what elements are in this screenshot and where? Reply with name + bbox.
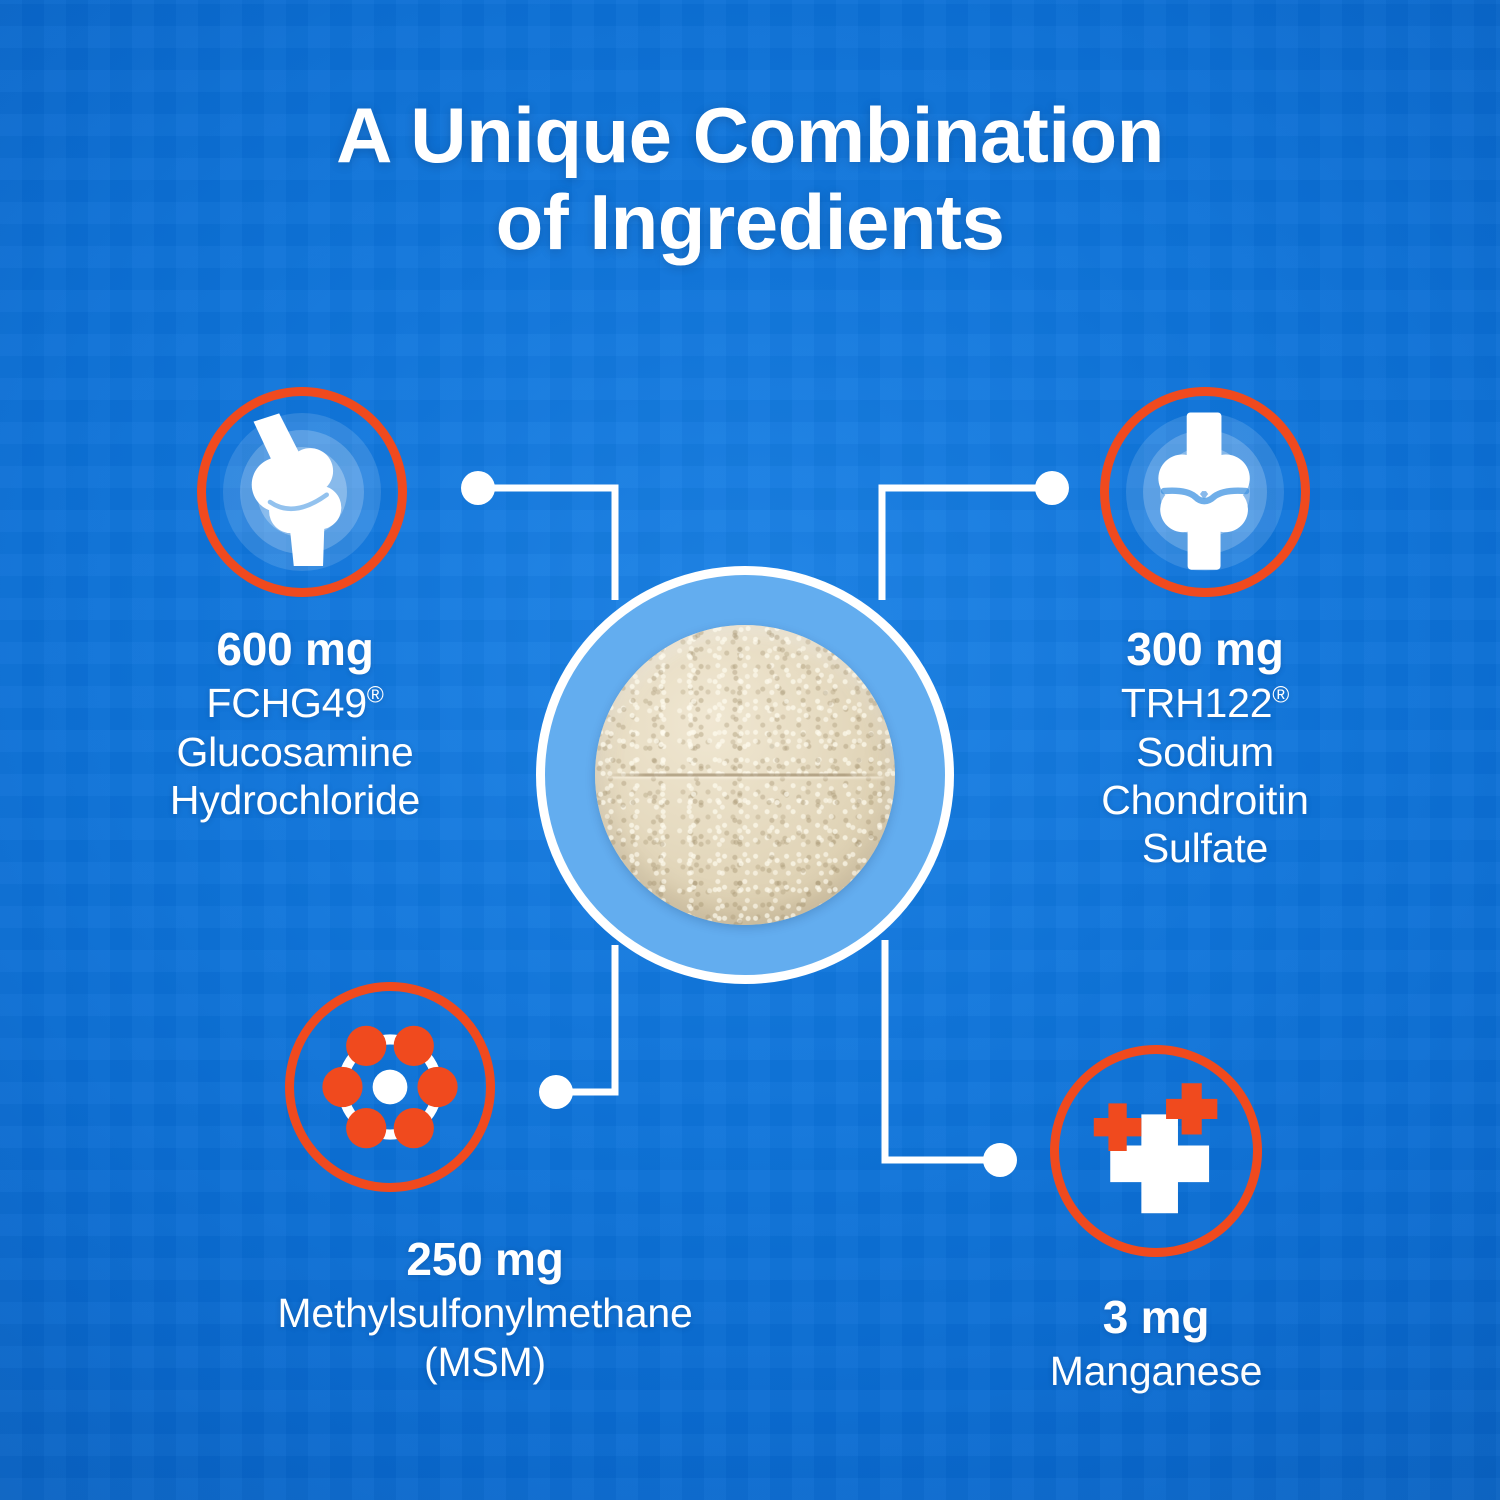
knee-joint-icon-ring: [197, 387, 407, 597]
connector-top-right: [882, 471, 1069, 600]
medical-cross-icon: [1059, 1054, 1253, 1248]
page-title: A Unique Combination of Ingredients: [0, 92, 1500, 267]
knee-joint-icon: [206, 396, 398, 588]
connector-dot-top-right: [1035, 471, 1069, 505]
ingredient-node-glucosamine[interactable]: [197, 387, 407, 597]
name-msm-1: Methylsulfonylmethane: [277, 1290, 692, 1336]
name-chondroitin-3: Sulfate: [1142, 825, 1268, 871]
ingredient-label-glucosamine: 600 mg FCHG49® Glucosamine Hydrochloride: [85, 622, 505, 824]
medical-cross-icon-ring: [1050, 1045, 1262, 1257]
center-tablet-circle: [545, 575, 945, 975]
name-chondroitin-1: Sodium: [1136, 729, 1274, 775]
connector-top-left: [461, 471, 615, 600]
connector-dot-bottom-left: [539, 1075, 573, 1109]
title-line-1: A Unique Combination: [336, 91, 1164, 179]
connector-dot-bottom-right: [983, 1143, 1017, 1177]
ingredient-label-msm: 250 mg Methylsulfonylmethane (MSM): [185, 1232, 785, 1386]
title-line-2: of Ingredients: [0, 179, 1500, 266]
name-chondroitin-2: Chondroitin: [1101, 777, 1309, 823]
name-glucosamine-2: Hydrochloride: [170, 777, 420, 823]
name-manganese-1: Manganese: [1050, 1348, 1262, 1394]
tablet-image: [595, 625, 895, 925]
molecule-icon-ring: [285, 982, 495, 1192]
ingredient-label-chondroitin: 300 mg TRH122® Sodium Chondroitin Sulfat…: [995, 622, 1415, 873]
ingredient-node-msm[interactable]: [285, 982, 495, 1192]
bone-joint-icon-ring: [1100, 387, 1310, 597]
infographic-canvas: A Unique Combination of Ingredients: [0, 0, 1500, 1500]
ingredient-label-manganese: 3 mg Manganese: [946, 1290, 1366, 1396]
ingredient-node-manganese[interactable]: [1050, 1045, 1262, 1257]
ingredient-node-chondroitin[interactable]: [1100, 387, 1310, 597]
connector-bottom-left: [539, 945, 615, 1109]
connector-dot-top-left: [461, 471, 495, 505]
connector-bottom-right: [885, 940, 1017, 1177]
brand-chondroitin: TRH122: [1121, 680, 1272, 726]
brand-glucosamine: FCHG49: [206, 680, 367, 726]
molecule-icon: [294, 991, 486, 1183]
amount-glucosamine: 600 mg: [85, 622, 505, 676]
trademark-chondroitin: ®: [1272, 682, 1289, 708]
tablet-score-line: [607, 774, 883, 777]
amount-manganese: 3 mg: [946, 1290, 1366, 1344]
name-msm-2: (MSM): [424, 1339, 546, 1385]
amount-msm: 250 mg: [185, 1232, 785, 1286]
amount-chondroitin: 300 mg: [995, 622, 1415, 676]
trademark-glucosamine: ®: [367, 682, 384, 708]
name-glucosamine-1: Glucosamine: [176, 729, 413, 775]
bone-joint-icon: [1109, 396, 1301, 588]
